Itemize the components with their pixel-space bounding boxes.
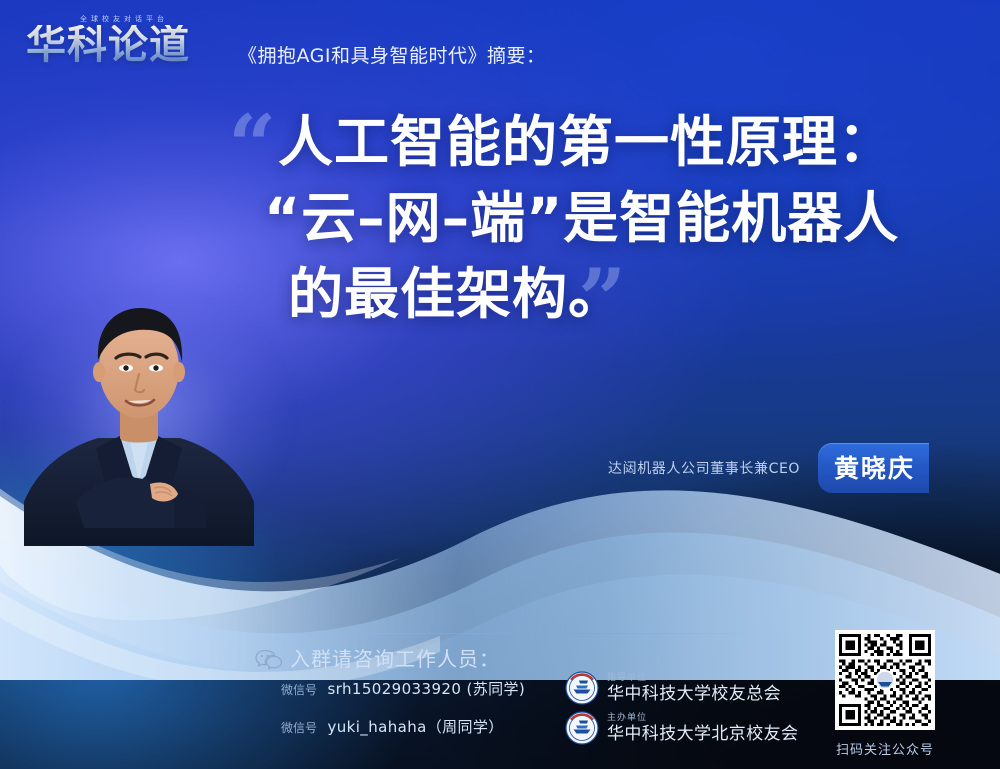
qr-caption: 扫码关注公众号 [831, 739, 939, 758]
organization-name: 华中科技大学北京校友会 [607, 726, 798, 743]
speaker-portrait [24, 296, 254, 546]
episode-subtitle: 《拥抱AGI和具身智能时代》摘要： [238, 41, 546, 72]
organization-row: 主办单位 华中科技大学北京校友会 [565, 711, 798, 745]
speaker-name-badge: 黄晓庆 [818, 443, 929, 493]
poster-canvas: 全球校友对话平台 华科论道 《拥抱AGI和具身智能时代》摘要： “ 人工智能的第… [0, 0, 1000, 769]
organization-kind: 主办单位 [607, 714, 798, 723]
footer-divider [285, 633, 775, 634]
contact-label: 微信号 [281, 683, 317, 697]
speaker-attribution: 达闼机器人公司董事长兼CEO 黄晓庆 [608, 443, 929, 493]
contact-label: 微信号 [281, 721, 317, 735]
contact-value: srh15029033920 (苏同学) [327, 680, 525, 698]
brand-title: 华科论道 [26, 25, 190, 65]
headline-line-1: 人工智能的第一性原理： [278, 104, 968, 180]
qr-code-icon[interactable] [835, 630, 935, 730]
organization-kind: 指导单位 [607, 674, 781, 683]
qr-block: 扫码关注公众号 [831, 630, 939, 758]
organization-row: 指导单位 华中科技大学校友总会 [565, 671, 781, 705]
wechat-icon [255, 649, 283, 671]
speaker-title: 达闼机器人公司董事长兼CEO [608, 458, 818, 478]
quote-close-mark: ” [578, 258, 626, 342]
brand-logo: 全球校友对话平台 华科论道 [26, 14, 222, 72]
headline-line-2: “云–网–端”是智能机器人 [264, 180, 968, 256]
university-seal-icon [565, 671, 599, 705]
contact-row: 微信号 srh15029033920 (苏同学) [281, 678, 525, 699]
contact-value: yuki_hahaha（周同学） [327, 718, 503, 736]
footer-heading: 入群请咨询工作人员： [290, 643, 500, 672]
poster-header: 全球校友对话平台 华科论道 《拥抱AGI和具身智能时代》摘要： [26, 14, 546, 72]
headline-line-3: 的最佳架构。 [288, 256, 968, 332]
organization-name: 华中科技大学校友总会 [607, 686, 781, 703]
contact-row: 微信号 yuki_hahaha（周同学） [281, 716, 504, 737]
quote-open-mark: “ [228, 104, 276, 188]
university-seal-icon [565, 711, 599, 745]
